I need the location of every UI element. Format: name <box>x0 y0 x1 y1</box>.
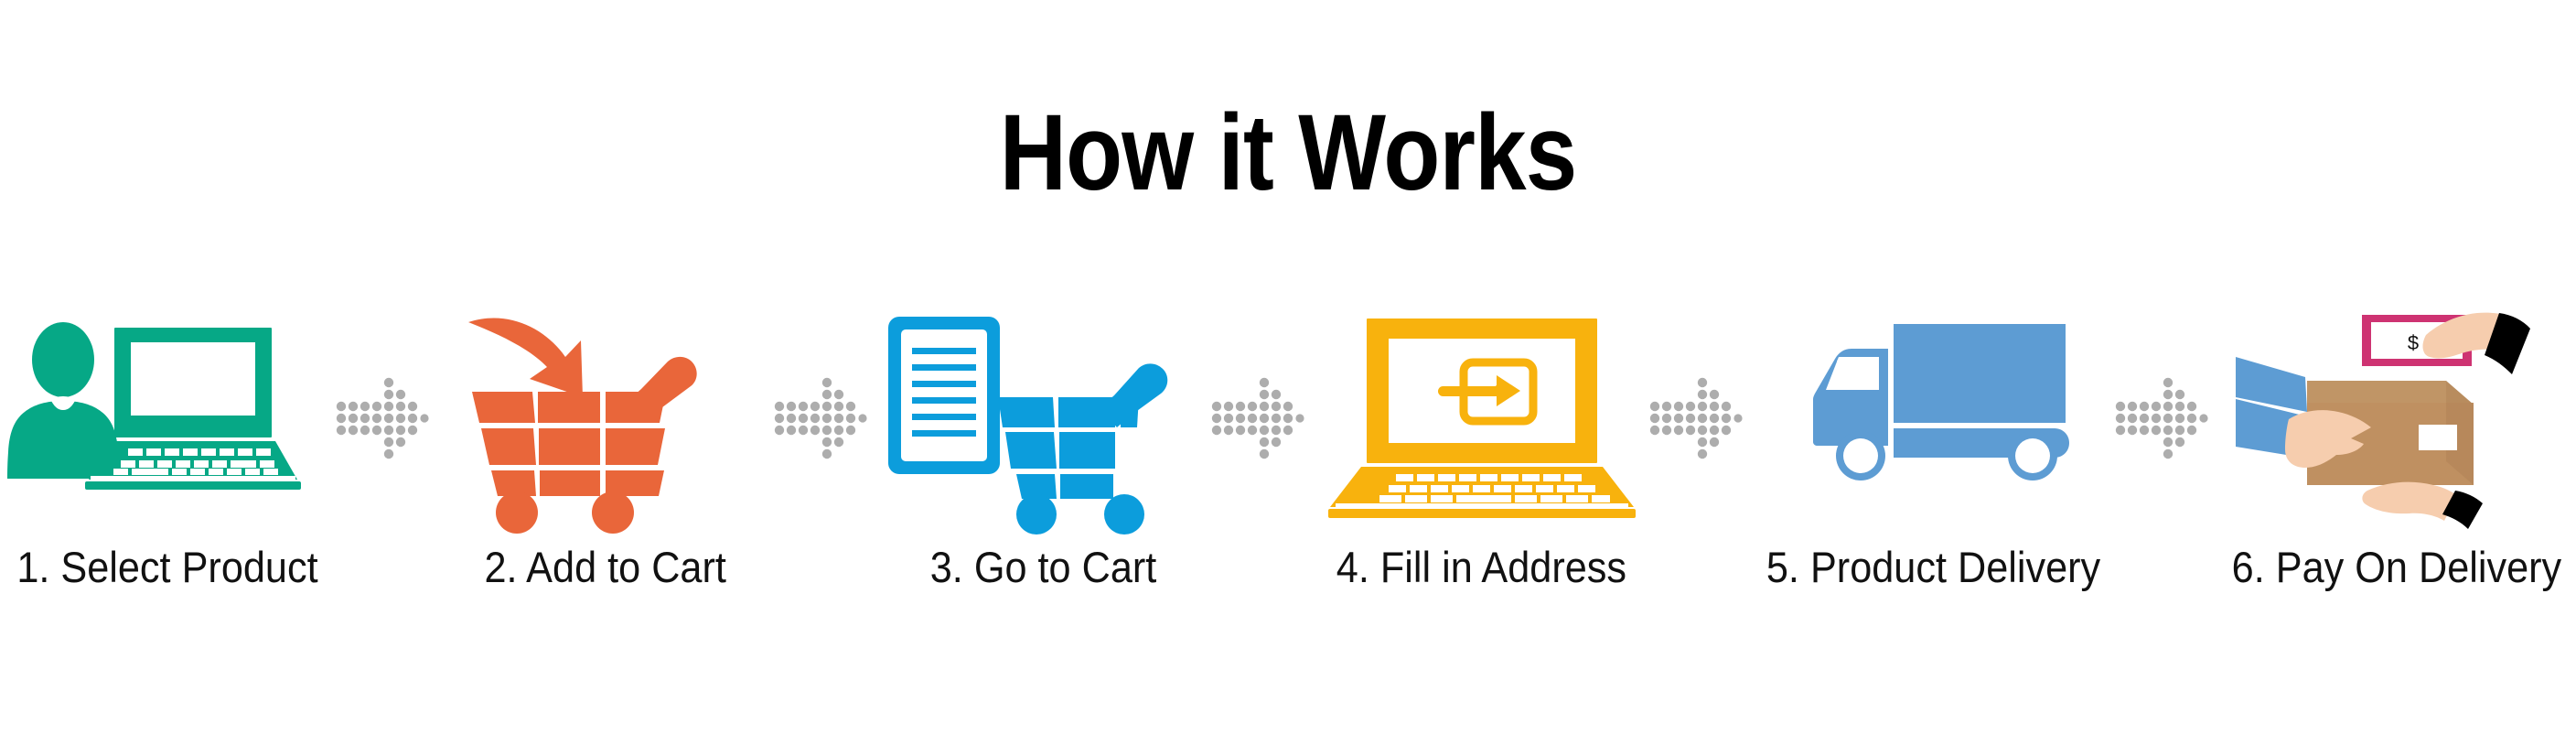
separator-arrow-5 <box>2115 311 2217 522</box>
step-4-fill-in-address[interactable]: 4. Fill in Address <box>1314 311 1649 677</box>
bill-dollar-symbol: $ <box>2408 331 2419 354</box>
separator-arrow-4 <box>1649 311 1752 522</box>
step-5-label: 5. Product Delivery <box>1766 545 2100 588</box>
step-2-add-to-cart[interactable]: 2. Add to Cart <box>438 311 774 677</box>
step-3-label: 3. Go to Cart <box>930 545 1157 588</box>
receiving-hand <box>2362 482 2483 529</box>
step-4-label: 4. Fill in Address <box>1336 545 1626 588</box>
step-5-product-delivery[interactable]: 5. Product Delivery <box>1752 311 2115 677</box>
delivery-truck-icon <box>1769 311 2098 522</box>
how-it-works-infographic: How it Works <box>0 0 2576 745</box>
step-1-label: 1. Select Product <box>17 545 318 588</box>
shipping-label <box>2419 425 2457 450</box>
document-list-with-cart-icon <box>879 311 1208 522</box>
separator-arrow-1 <box>336 311 438 522</box>
laptop-with-login-arrow-icon <box>1317 311 1647 522</box>
person-with-laptop-icon <box>3 311 332 522</box>
separator-arrow-2 <box>774 311 876 522</box>
shopping-cart-with-arrow-icon <box>441 311 770 522</box>
steps-row: 1. Select Product <box>0 311 2576 696</box>
step-3-go-to-cart[interactable]: 3. Go to Cart <box>876 311 1212 677</box>
cash-on-delivery-handover-icon: $ <box>2232 311 2561 522</box>
step-2-label: 2. Add to Cart <box>485 545 726 588</box>
separator-arrow-3 <box>1211 311 1314 522</box>
step-6-pay-on-delivery[interactable]: $ <box>2217 311 2576 677</box>
step-1-select-product[interactable]: 1. Select Product <box>0 311 336 677</box>
step-6-label: 6. Pay On Delivery <box>2232 545 2561 588</box>
page-title: How it Works <box>180 99 2396 207</box>
